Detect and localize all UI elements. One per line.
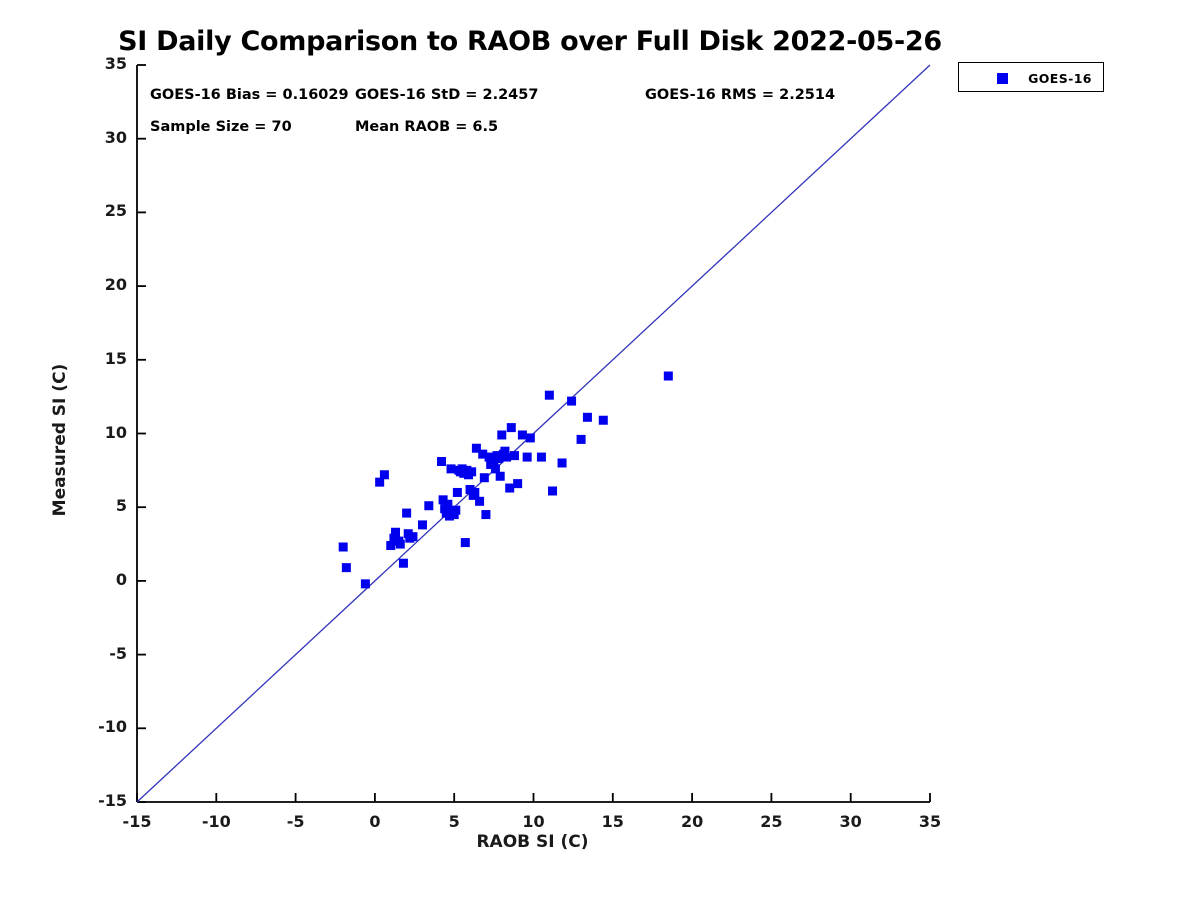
data-point xyxy=(496,472,505,481)
data-point xyxy=(447,464,456,473)
y-tick-label: -15 xyxy=(67,791,127,810)
data-point xyxy=(399,559,408,568)
x-tick-label: 35 xyxy=(900,812,960,831)
x-tick-label: 15 xyxy=(583,812,643,831)
x-tick-label: -5 xyxy=(266,812,326,831)
data-point xyxy=(481,510,490,519)
plot-canvas xyxy=(0,0,1200,900)
y-tick-label: 0 xyxy=(67,570,127,589)
data-point xyxy=(453,488,462,497)
data-point xyxy=(380,470,389,479)
legend[interactable]: GOES-16 xyxy=(958,62,1104,92)
x-tick-label: -10 xyxy=(186,812,246,831)
legend-swatch-goes-16 xyxy=(997,73,1008,84)
data-point xyxy=(548,486,557,495)
legend-label-goes-16: GOES-16 xyxy=(1021,71,1099,86)
annotation-sample-size: Sample Size = 70 xyxy=(150,119,292,135)
data-point xyxy=(396,540,405,549)
data-point xyxy=(545,391,554,400)
data-point xyxy=(599,416,608,425)
y-tick-label: 30 xyxy=(67,128,127,147)
data-point xyxy=(505,484,514,493)
x-tick-label: 10 xyxy=(504,812,564,831)
data-point xyxy=(408,532,417,541)
annotation-mean-raob: Mean RAOB = 6.5 xyxy=(355,119,498,135)
data-point xyxy=(467,467,476,476)
data-point xyxy=(497,430,506,439)
x-tick-label: 5 xyxy=(424,812,484,831)
data-point xyxy=(480,473,489,482)
y-tick-label: -10 xyxy=(67,717,127,736)
data-point xyxy=(518,430,527,439)
data-point xyxy=(361,579,370,588)
data-point xyxy=(537,453,546,462)
page-title: SI Daily Comparison to RAOB over Full Di… xyxy=(0,26,1060,57)
data-point xyxy=(437,457,446,466)
y-tick-label: 25 xyxy=(67,201,127,220)
data-point xyxy=(424,501,433,510)
annotation-bias: GOES-16 Bias = 0.16029 xyxy=(150,87,349,103)
data-point xyxy=(664,372,673,381)
y-tick-label: 35 xyxy=(67,54,127,73)
data-point xyxy=(583,413,592,422)
x-tick-label: -15 xyxy=(107,812,167,831)
data-point xyxy=(507,423,516,432)
x-tick-label: 20 xyxy=(662,812,722,831)
data-point xyxy=(342,563,351,572)
x-tick-label: 25 xyxy=(741,812,801,831)
x-tick-label: 30 xyxy=(821,812,881,831)
y-tick-label: 5 xyxy=(67,496,127,515)
data-point xyxy=(526,433,535,442)
scatter-plot-figure: SI Daily Comparison to RAOB over Full Di… xyxy=(0,0,1200,900)
y-tick-label: 10 xyxy=(67,423,127,442)
x-tick-label: 0 xyxy=(345,812,405,831)
data-points-group xyxy=(339,372,673,589)
data-point xyxy=(470,488,479,497)
data-point xyxy=(391,528,400,537)
annotation-std: GOES-16 StD = 2.2457 xyxy=(355,87,538,103)
data-point xyxy=(513,479,522,488)
data-point xyxy=(418,520,427,529)
data-point xyxy=(577,435,586,444)
data-point xyxy=(451,506,460,515)
data-point xyxy=(339,542,348,551)
data-point xyxy=(461,538,470,547)
annotation-rms: GOES-16 RMS = 2.2514 xyxy=(645,87,835,103)
data-point xyxy=(475,497,484,506)
data-point xyxy=(567,397,576,406)
data-point xyxy=(502,453,511,462)
data-point xyxy=(558,458,567,467)
y-tick-label: 15 xyxy=(67,349,127,368)
y-tick-label: -5 xyxy=(67,644,127,663)
x-axis-label: RAOB SI (C) xyxy=(0,832,1065,852)
data-point xyxy=(510,451,519,460)
data-point xyxy=(402,509,411,518)
data-point xyxy=(523,453,532,462)
y-tick-label: 20 xyxy=(67,275,127,294)
